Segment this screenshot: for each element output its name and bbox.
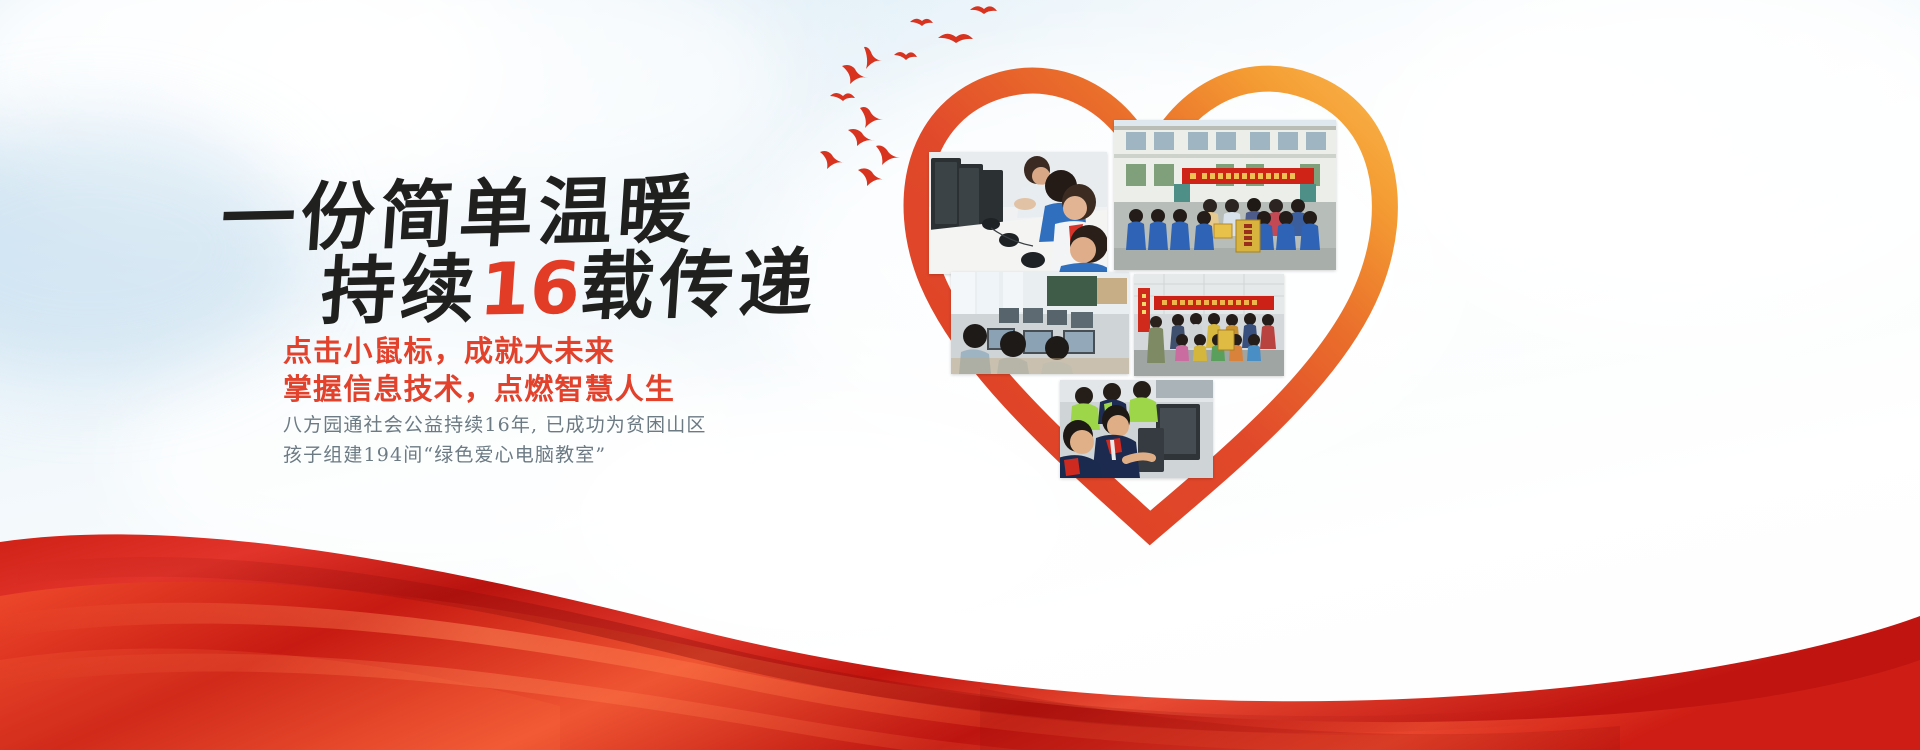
photo-ceremony-school	[1114, 120, 1336, 270]
red-silk-wave	[0, 420, 1920, 750]
photo-classroom	[951, 272, 1129, 374]
headline-years-number: 16	[477, 246, 583, 332]
subtitle-line-2: 掌握信息技术，点燃智慧人生	[283, 366, 675, 408]
charity-banner: 一份简单温暖 持续16载传递 点击小鼠标，成就大未来 掌握信息技术，点燃智慧人生…	[0, 0, 1920, 750]
headline-line-2: 持续16载传递	[318, 224, 822, 340]
photo-lab-mice	[929, 152, 1107, 274]
subtitle-line-1: 点击小鼠标，成就大未来	[283, 328, 615, 370]
photo-ceremony-donation	[1134, 274, 1284, 376]
headline-line-2-prefix: 持续	[318, 247, 483, 336]
headline-line-2-suffix: 载传递	[577, 241, 821, 331]
